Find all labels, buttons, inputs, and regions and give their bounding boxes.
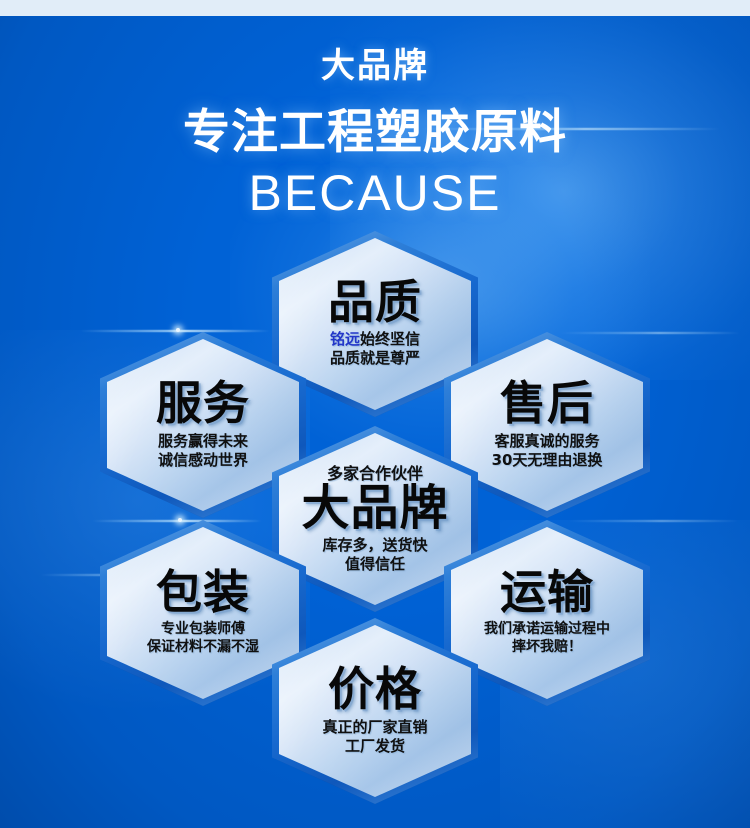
hexagon-subtitle-line: 保证材料不漏不湿 <box>147 639 259 657</box>
hexagon-subtitle-line: 摔坏我赔！ <box>484 639 610 657</box>
hexagon-subtitle-line: 真正的厂家直销 <box>322 718 427 737</box>
promo-banner: 大品牌 专注工程塑胶原料 BECAUSE 品质 铭远始终坚信 品质就是尊严 <box>0 0 750 828</box>
hexagon-subtitle: 我们承诺运输过程中 摔坏我赔！ <box>484 621 610 657</box>
header-eyebrow: 大品牌 <box>0 38 750 87</box>
hexagon-subtitle: 服务赢得未来 诚信感动世界 <box>158 432 248 470</box>
hexagon-title: 运输 <box>500 569 594 616</box>
hexagon-subtitle-line: 铭远始终坚信 <box>330 330 420 349</box>
banner-header: 大品牌 专注工程塑胶原料 BECAUSE <box>0 16 750 222</box>
header-subheadline: BECAUSE <box>0 164 750 222</box>
hexagon-title: 售后 <box>500 380 594 427</box>
hexagon-subtitle: 客服真诚的服务 30天无理由退换 <box>492 432 603 470</box>
hexagon-subtitle-line: 客服真诚的服务 <box>492 432 603 451</box>
top-light-band <box>0 0 750 16</box>
hexagon-subtitle-rest: 始终坚信 <box>360 330 420 348</box>
hexagon-subtitle-line: 值得信任 <box>322 555 427 574</box>
hexagon-subtitle: 库存多，送货快 值得信任 <box>322 536 427 574</box>
hexagon-title: 品质 <box>328 279 422 326</box>
hexagon-subtitle-line: 专业包装师傅 <box>147 621 259 639</box>
hexagon-subtitle: 真正的厂家直销 工厂发货 <box>322 718 427 756</box>
hexagon-title: 服务 <box>156 380 250 427</box>
hexagon-subtitle: 铭远始终坚信 品质就是尊严 <box>330 330 420 368</box>
hexagon-subtitle-line: 我们承诺运输过程中 <box>484 621 610 639</box>
hexagon-subtitle-line: 30天无理由退换 <box>492 451 603 470</box>
brand-highlight: 铭远 <box>330 330 360 348</box>
hexagon-subtitle: 专业包装师傅 保证材料不漏不湿 <box>147 621 259 657</box>
hexagon-subtitle-line: 工厂发货 <box>322 737 427 756</box>
hexagon-title: 大品牌 <box>301 484 448 533</box>
hexagon-title: 包装 <box>156 569 250 616</box>
hexagon-subtitle-line: 诚信感动世界 <box>158 451 248 470</box>
hexagon-title: 价格 <box>328 666 422 713</box>
header-headline: 专注工程塑胶原料 <box>0 93 750 162</box>
hexagon-subtitle-line: 服务赢得未来 <box>158 432 248 451</box>
hexagon-subtitle-line: 库存多，送货快 <box>322 536 427 555</box>
hexagon-subtitle-line: 品质就是尊严 <box>330 349 420 368</box>
